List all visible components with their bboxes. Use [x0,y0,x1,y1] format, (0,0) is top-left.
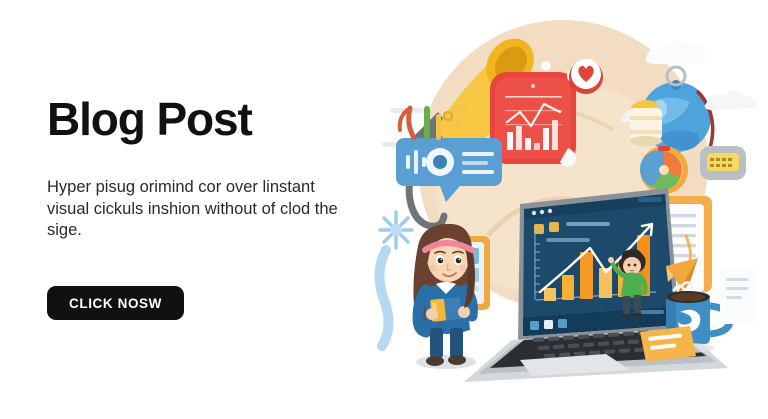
cream-cup-icon [630,100,662,146]
copy-block: Blog Post Hyper pisug orimind cor over l… [47,96,357,242]
sticky-note-icon [640,326,696,362]
girl-character-icon [413,224,476,369]
snowflake-icon [379,212,412,346]
page-title: Blog Post [47,96,357,143]
laptop-icon [518,188,680,342]
white-card-icon [720,268,754,324]
hero-illustration [368,0,768,419]
pie-chart-circle-icon [640,146,688,194]
body-text: Hyper pisug orimind cor over linstant vi… [47,143,339,242]
blog-post-banner: Blog Post Hyper pisug orimind cor over l… [0,0,768,419]
calculator-badge-icon [700,146,746,180]
click-now-button[interactable]: CLICK NOSW [47,286,184,320]
